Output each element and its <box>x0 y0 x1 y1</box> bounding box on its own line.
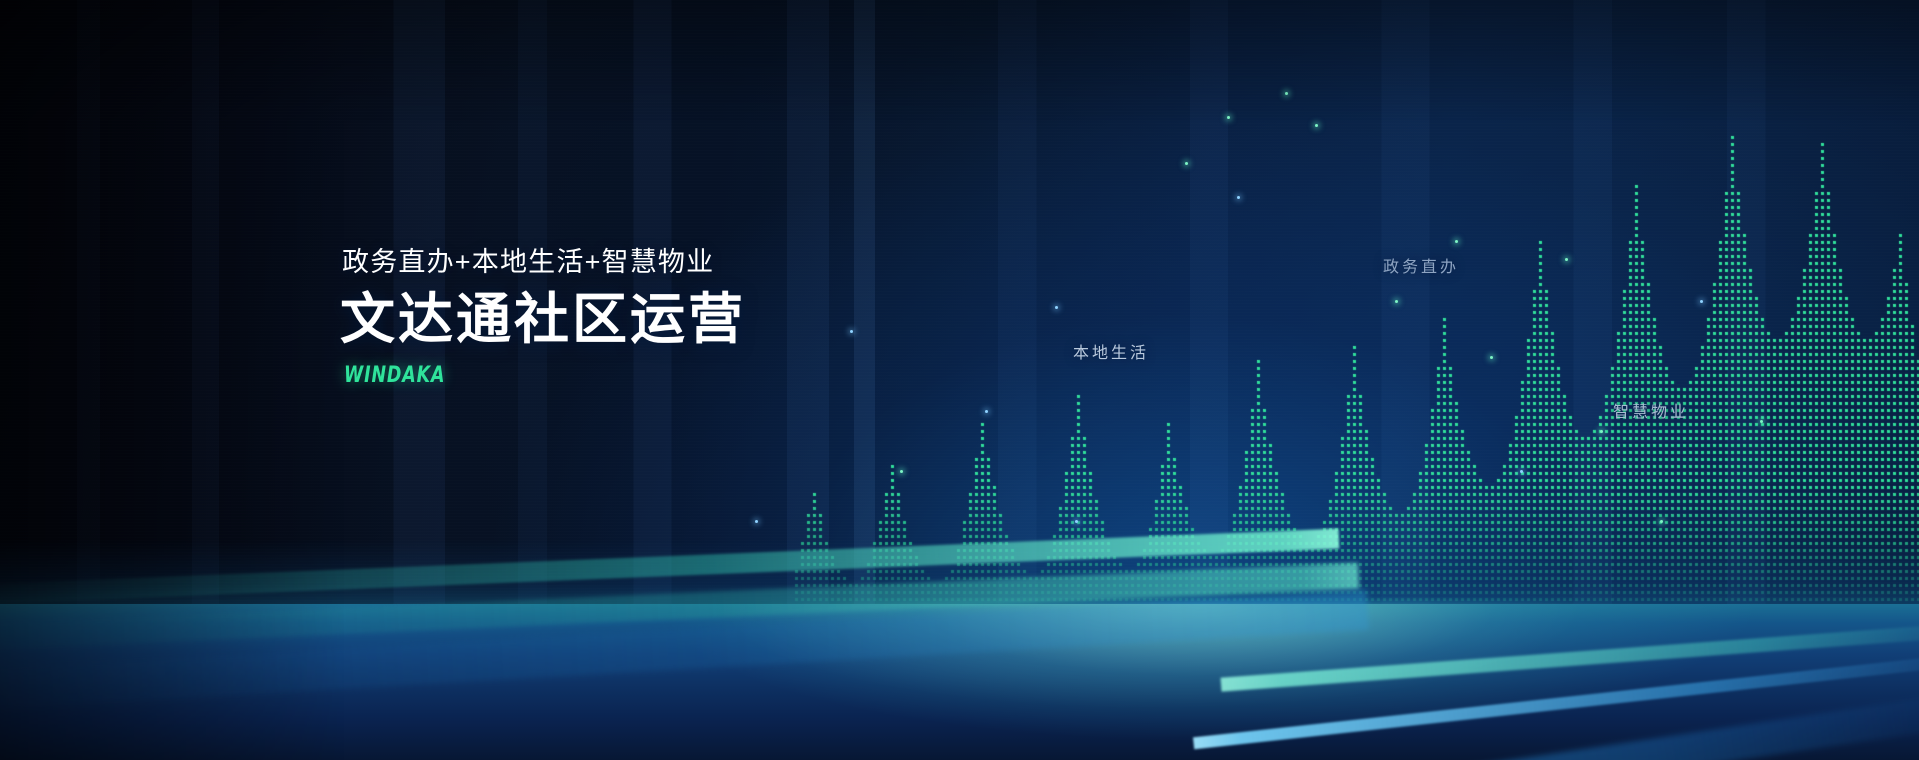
sparkle-dot <box>1760 420 1763 423</box>
zone-label-government: 政务直办 <box>1383 253 1459 277</box>
sparkle-dot <box>900 470 903 473</box>
hero-headline: 文达通社区运营 <box>340 291 746 349</box>
sparkle-dot <box>1455 240 1458 243</box>
sparkle-dot <box>1055 306 1058 309</box>
sparkle-dot <box>850 330 853 333</box>
sparkle-dot <box>1600 430 1603 433</box>
hero-kicker: 政务直办+本地生活+智慧物业 <box>342 240 746 279</box>
sparkle-dot <box>1237 196 1240 199</box>
sparkle-dot <box>1565 258 1568 261</box>
sparkle-dot <box>1285 92 1288 95</box>
brand-wordmark: WINDAKA <box>344 363 698 388</box>
sparkle-dot <box>1490 356 1493 359</box>
hero-copy-block: 政务直办+本地生活+智慧物业 文达通社区运营 WINDAKA <box>340 240 746 388</box>
sparkle-dot <box>1395 300 1398 303</box>
sparkle-dot <box>1660 520 1663 523</box>
sparkle-dot <box>1315 124 1318 127</box>
zone-label-smart-property: 智慧物业 <box>1613 398 1689 422</box>
sparkle-dot <box>1700 300 1703 303</box>
hero-banner: 政务直办 本地生活 智慧物业 政务直办+本地生活+智慧物业 文达通社区运营 WI… <box>0 0 1919 760</box>
sparkle-dot <box>1520 470 1523 473</box>
sparkle-dot <box>1185 162 1188 165</box>
sparkle-dot <box>755 520 758 523</box>
sparkle-dot <box>1075 520 1078 523</box>
sparkle-dot <box>1227 116 1230 119</box>
zone-label-local-life: 本地生活 <box>1073 339 1149 363</box>
sparkle-dot <box>985 410 988 413</box>
